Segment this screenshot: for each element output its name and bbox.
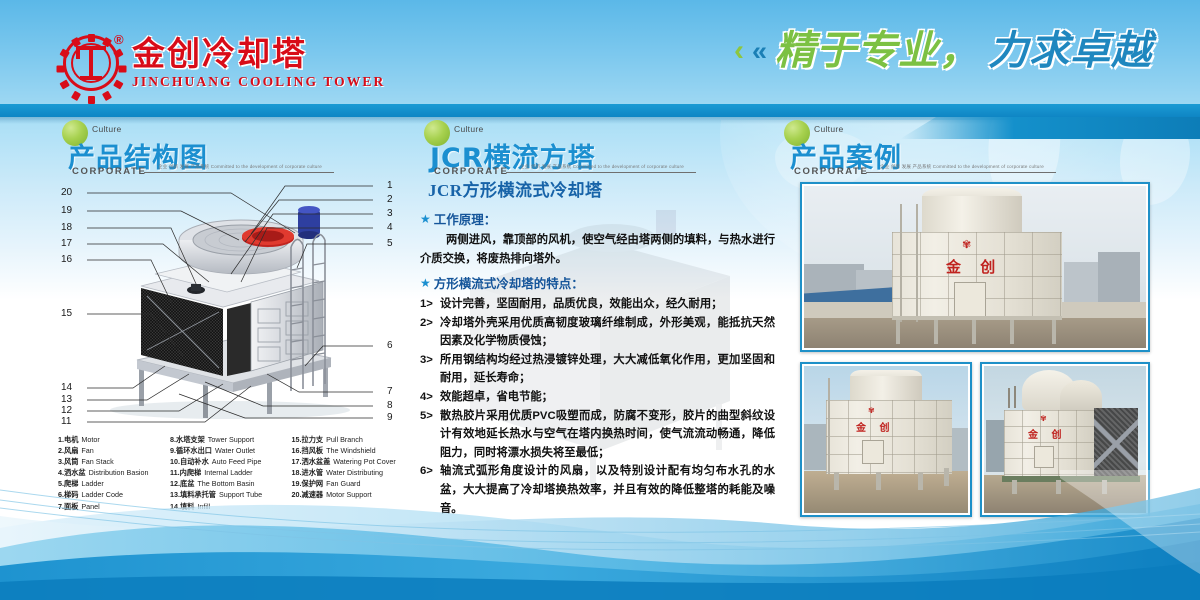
callout-18: 18: [61, 222, 72, 233]
feature-item: 5>散热胶片采用优质PVC吸塑而成，防腐不变形，胶片的曲型斜纹设计有效地延长热水…: [420, 407, 775, 463]
chevron-left-inner-icon: «: [752, 38, 767, 65]
callout-8: 8: [387, 400, 393, 411]
callout-4: 4: [387, 222, 393, 233]
callout-7: 7: [387, 386, 393, 397]
section-rule: [866, 172, 1056, 173]
legend-item: 2.风扇Fan: [58, 445, 160, 456]
callout-19: 19: [61, 205, 72, 216]
section-microtext: 企业 创新 发展 产品系统 Committed to the developme…: [158, 164, 333, 170]
feature-item: 4>效能超卓，省电节能；: [420, 388, 775, 407]
registered-trademark-icon: ®: [114, 32, 124, 47]
section-culture-label: Culture: [814, 124, 844, 134]
feature-item: 1>设计完善，坚固耐用，品质优良，效能出众，经久耐用；: [420, 295, 775, 314]
section-rule: [506, 172, 696, 173]
legend-item: 16.挡风板The Windshield: [292, 445, 403, 456]
callout-1: 1: [387, 180, 393, 191]
brand-logo: ® 金创冷却塔 JINCHUANG COOLING TOWER: [60, 32, 385, 94]
callout-20: 20: [61, 187, 72, 198]
poster-page: ® 金创冷却塔 JINCHUANG COOLING TOWER ‹ « 精于专业…: [0, 0, 1200, 600]
callout-12: 12: [61, 405, 72, 416]
features-heading: ★ 方形横流式冷却塔的特点：: [420, 273, 775, 292]
callout-11: 11: [61, 416, 71, 427]
bottom-wave-decoration: [0, 470, 1200, 600]
principle-heading-label: 工作原理：: [434, 209, 497, 228]
callout-5: 5: [387, 238, 393, 249]
jc-monogram-icon: [76, 46, 106, 80]
callout-15: 15: [61, 308, 72, 319]
legend-item: 9.循环水出口Water Outlet: [170, 445, 281, 456]
header-divider-tail: [900, 117, 1200, 139]
callout-16: 16: [61, 254, 72, 265]
callout-17: 17: [61, 238, 72, 249]
section-microtext: 企业 创新 发展 产品系统 Committed to the developme…: [520, 164, 695, 170]
photo-main-rooftop[interactable]: ✾ 金 创: [800, 182, 1150, 352]
feature-item: 2>冷却塔外壳采用优质高韧度玻璃纤维制成，外形美观，能抵抗天然因素及化学物质侵蚀…: [420, 314, 775, 351]
callout-13: 13: [61, 394, 72, 405]
section-corporate-label: CORPORATE: [794, 166, 868, 177]
section-culture-label: Culture: [454, 124, 484, 134]
article-title: JCR方形横流式冷却塔: [428, 176, 775, 201]
chevron-left-outer-icon: ‹: [734, 36, 744, 66]
brand-name-en: JINCHUANG COOLING TOWER: [132, 74, 385, 90]
legend-item: 8.水塔支架Tower Support: [170, 434, 281, 445]
slogan-text-part2: 力求卓越: [988, 30, 1152, 72]
callout-3: 3: [387, 208, 393, 219]
section-microtext: 企业 创新 发展 产品系统 Committed to the developme…: [880, 164, 1055, 170]
product-structure-diagram: 20 19 18 17 16 15 14 13 12 11 1 2 3 4 5 …: [55, 178, 405, 428]
section-culture-label: Culture: [92, 124, 122, 134]
principle-heading: ★ 工作原理：: [420, 209, 775, 228]
legend-item: 15.拉力支Pull Branch: [292, 434, 403, 445]
photo-brand-mark: 金 创: [946, 256, 1002, 277]
photo-brand-mark: 金 创: [1028, 426, 1066, 441]
section-rule: [144, 172, 334, 173]
section-corporate-label: CORPORATE: [72, 166, 146, 177]
callout-14: 14: [61, 382, 72, 393]
star-bullet-icon: ★: [420, 276, 431, 290]
tower-diagram-svg: [55, 178, 405, 428]
brand-name-cn: 金创冷却塔: [132, 36, 385, 72]
star-bullet-icon: ★: [420, 212, 431, 226]
callout-2: 2: [387, 194, 393, 205]
feature-item: 3>所用钢结构均经过热浸镀锌处理，大大减低氧化作用，更加坚固和耐用，延长寿命；: [420, 351, 775, 388]
photo-brand-mark: 金 创: [856, 419, 894, 434]
callout-6: 6: [387, 340, 393, 351]
legend-item: 10.自动补水Auto Feed Pipe: [170, 456, 281, 467]
principle-body: 两侧进风，靠顶部的风机，使空气经由塔两侧的填料，与热水进行介质交换，将废热排向塔…: [420, 231, 775, 268]
brand-wordmark: 金创冷却塔 JINCHUANG COOLING TOWER: [132, 36, 385, 90]
legend-item: 17.洒水盆盖Watering Pot Cover: [292, 456, 403, 467]
header-divider-bar: [0, 104, 1200, 117]
header-slogan: ‹ « 精于专业， 力求卓越: [734, 30, 1152, 72]
photo-inner: ✾ 金 创: [804, 186, 1146, 348]
features-heading-label: 方形横流式冷却塔的特点：: [434, 273, 584, 292]
callout-9: 9: [387, 412, 393, 423]
legend-item: 1.电机Motor: [58, 434, 160, 445]
legend-item: 3.风筒Fan Stack: [58, 456, 160, 467]
slogan-text-part1: 精于专业，: [775, 30, 980, 72]
gear-logo-icon: ®: [60, 32, 122, 94]
